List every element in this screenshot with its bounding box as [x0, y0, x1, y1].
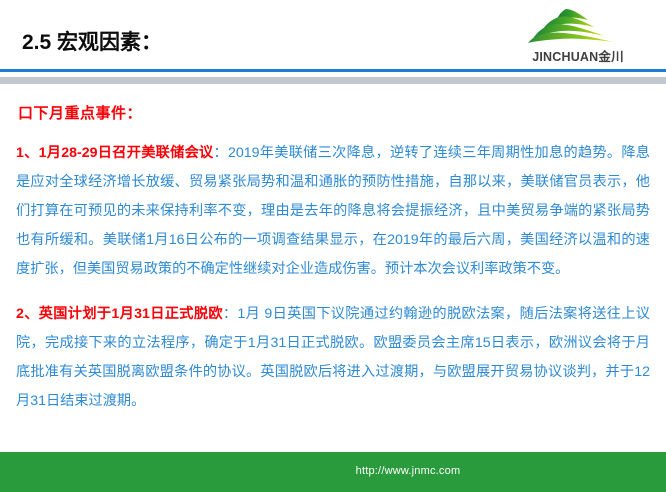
company-logo: JINCHUAN金川 [508, 8, 648, 66]
slide-body: 口下月重点事件： 1、1月28-29日召开美联储会议：2019年美联储三次降息，… [0, 92, 666, 450]
event-2-colon: ： [223, 306, 238, 322]
slide-footer: http://www.jnmc.com [0, 452, 666, 492]
event-1-lead: 1、1月28-29日召开美联储会议 [16, 145, 214, 161]
jinchuan-mountain-logo-icon [526, 8, 636, 44]
header-gray-rule [0, 77, 666, 84]
footer-url[interactable]: http://www.jnmc.com [356, 465, 461, 477]
event-paragraph-1: 1、1月28-29日召开美联储会议：2019年美联储三次降息，逆转了连续三年周期… [16, 139, 650, 284]
event-1-text: 2019年美联储三次降息，逆转了连续三年周期性加息的趋势。降息是应对全球经济增长… [16, 145, 650, 277]
event-paragraph-2: 2、英国计划于1月31日正式脱欧：1月 9日英国下议院通过约翰逊的脱欧法案，随后… [16, 300, 650, 416]
footer-url-wrap: http://www.jnmc.com [0, 465, 666, 477]
slide-canvas: 2.5 宏观因素： [0, 0, 666, 492]
event-2-lead: 2、英国计划于1月31日正式脱欧 [16, 306, 223, 322]
page-title: 2.5 宏观因素： [22, 26, 162, 56]
section-heading: 口下月重点事件： [18, 92, 666, 123]
slide-header: 2.5 宏观因素： [0, 0, 666, 70]
header-blue-rule [0, 69, 666, 72]
logo-wordmark: JINCHUAN金川 [508, 46, 648, 65]
event-1-colon: ： [214, 145, 228, 161]
